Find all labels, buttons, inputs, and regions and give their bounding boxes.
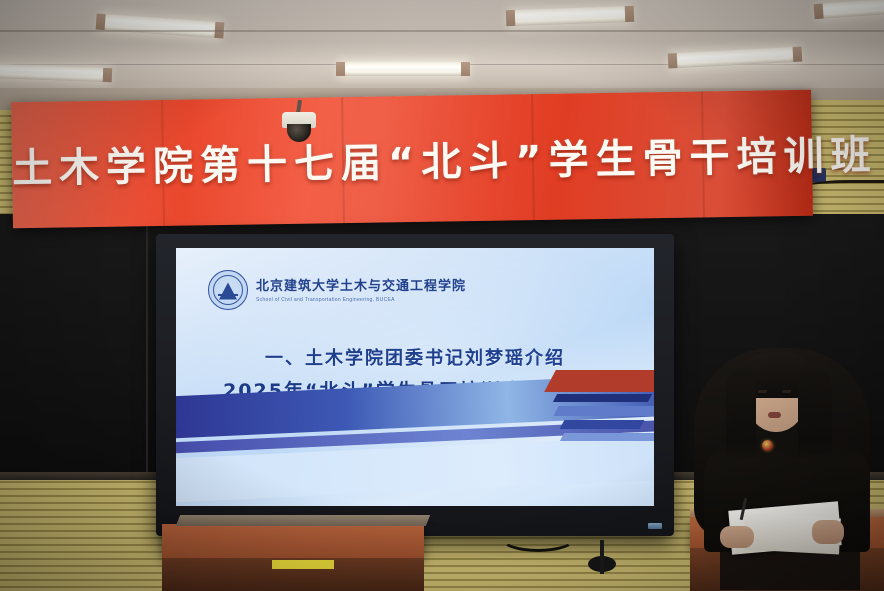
presentation-slide: 北京建筑大学土木与交通工程学院 School of Civil and Tran… — [176, 248, 654, 506]
display-cable — [500, 524, 576, 552]
eye-left — [758, 390, 767, 393]
dome-camera-icon — [282, 100, 316, 146]
wall-divider — [146, 214, 148, 476]
ceiling-light — [510, 6, 630, 26]
logo-text-english: School of Civil and Transportation Engin… — [256, 297, 466, 303]
event-banner: 土木学院第十七届“北斗”学生骨干培训班 — [11, 90, 813, 229]
university-seal-icon — [208, 270, 248, 310]
front-desk — [162, 524, 424, 558]
lapel-badge-icon — [762, 440, 773, 451]
logo-text-chinese: 北京建筑大学土木与交通工程学院 — [256, 279, 466, 294]
ceiling-light — [672, 47, 799, 69]
photo-scene: 土木学院第十七届“北斗”学生骨干培训班 北京建筑大学土木与交通工程学院 Scho… — [0, 0, 884, 591]
ceiling — [0, 0, 884, 92]
hand-right — [812, 520, 844, 544]
ceiling-light — [818, 0, 884, 19]
microphone-stand — [600, 540, 604, 574]
speaker-person — [686, 348, 884, 548]
slide-accent-graphic — [510, 368, 654, 458]
university-logo: 北京建筑大学土木与交通工程学院 School of Civil and Tran… — [208, 270, 466, 310]
banner-text: 土木学院第十七届“北斗”学生骨干培训班 — [12, 124, 813, 195]
cable-run — [800, 180, 884, 193]
display-indicator-led — [648, 523, 662, 529]
desk-label-tag — [272, 560, 334, 569]
presentation-display[interactable]: 北京建筑大学土木与交通工程学院 School of Civil and Tran… — [156, 234, 674, 536]
ceiling-light — [0, 64, 108, 82]
hand-left — [720, 526, 754, 548]
ceiling-light — [100, 14, 221, 38]
slide-headline-line1: 一、土木学院团委书记刘梦瑶介绍 — [176, 344, 654, 370]
ceiling-light — [340, 62, 466, 76]
mouth — [768, 412, 781, 418]
eye-right — [782, 390, 791, 393]
